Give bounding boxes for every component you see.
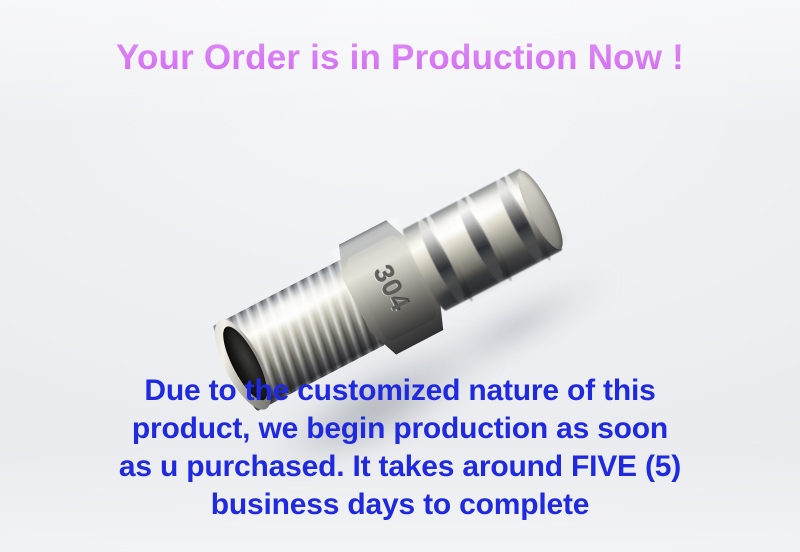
promo-image: Your Order is in Production Now ! 304 [0, 0, 800, 552]
notice-line: as u purchased. It takes around FIVE (5) [0, 448, 800, 486]
notice-line: product, we begin production as soon [0, 410, 800, 448]
production-notice: Due to the customized nature of this pro… [0, 372, 800, 524]
notice-line: Due to the customized nature of this [0, 372, 800, 410]
notice-line: business days to complete [0, 486, 800, 524]
headline-text: Your Order is in Production Now ! [0, 38, 800, 78]
product-photo: 304 [0, 110, 800, 380]
